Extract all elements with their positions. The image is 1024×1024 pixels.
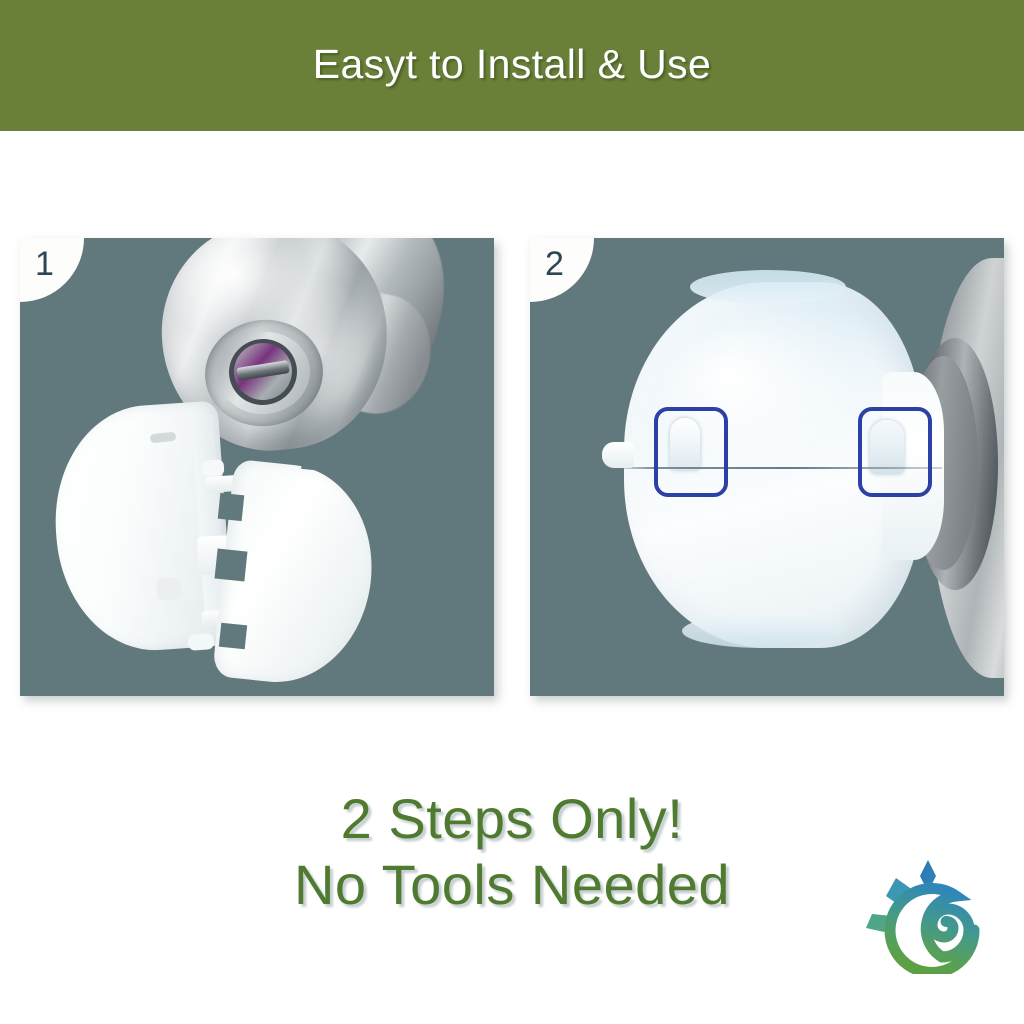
step-2-illustration bbox=[530, 238, 1004, 696]
page-title: Easyt to Install & Use bbox=[313, 44, 711, 85]
brand-logo bbox=[862, 856, 986, 974]
tagline-line-1: 2 Steps Only! bbox=[0, 786, 1024, 852]
step-2-number: 2 bbox=[545, 247, 564, 281]
cover-release-nub bbox=[602, 442, 634, 468]
latch-highlight-left bbox=[654, 407, 728, 497]
cover-right-post-top bbox=[201, 459, 224, 476]
header-band: Easyt to Install & Use bbox=[0, 0, 1024, 131]
cover-right-notch-middle bbox=[215, 549, 248, 582]
installed-cover-bottom-cap bbox=[682, 614, 844, 648]
latch-highlight-right bbox=[858, 407, 932, 497]
cover-right-post-bottom bbox=[187, 633, 214, 651]
step-1-panel[interactable]: 1 bbox=[20, 238, 494, 696]
installed-cover-top-cap bbox=[690, 270, 846, 304]
cover-left-marking bbox=[156, 577, 181, 601]
logo-spiral-icon bbox=[890, 888, 974, 972]
cover-right-notch-lower bbox=[219, 623, 247, 650]
step-1-illustration bbox=[20, 238, 494, 696]
steps-container: 1 2 bbox=[0, 238, 1024, 696]
step-1-number: 1 bbox=[35, 247, 54, 281]
step-2-panel[interactable]: 2 bbox=[530, 238, 1004, 696]
cover-right-notch-top bbox=[301, 451, 327, 471]
cover-right-notch-upper bbox=[218, 493, 245, 521]
